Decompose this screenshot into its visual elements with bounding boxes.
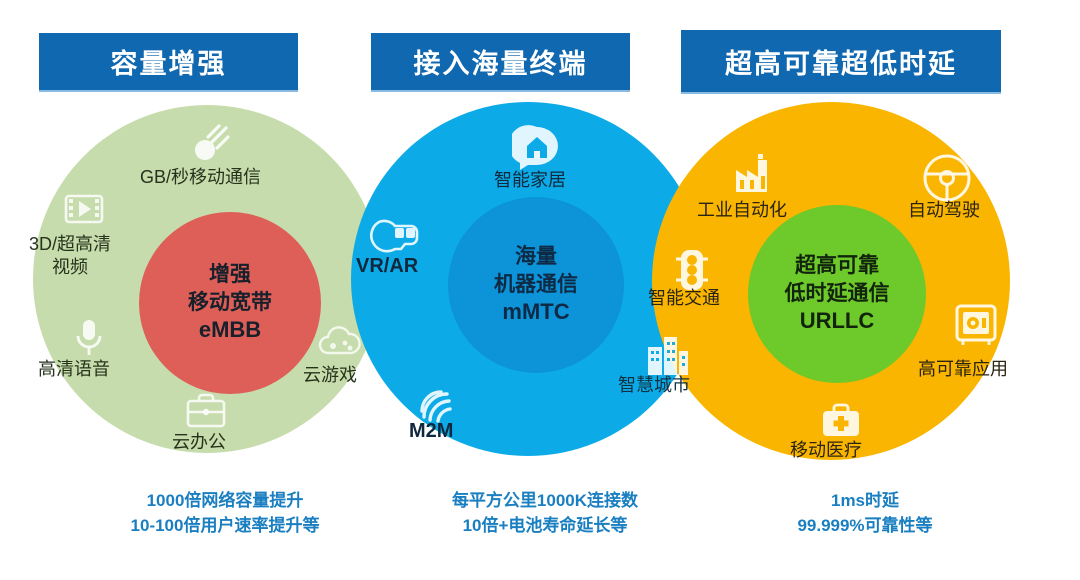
caption-embb: 1000倍网络容量提升 10-100倍用户速率提升等: [55, 489, 395, 538]
embb-core-line3: eMBB: [188, 316, 272, 345]
steering-wheel-icon: [921, 152, 973, 204]
label-industrial-automation: 工业自动化: [697, 200, 787, 221]
label-vr-ar: VR/AR: [356, 255, 418, 279]
label-cloud-office: 云办公: [172, 432, 226, 453]
banner-ultra-reliable-low-latency[interactable]: 超高可靠超低时延: [681, 30, 1001, 92]
buildings-icon: [643, 333, 691, 377]
banner-massive-terminals-label: 接入海量终端: [414, 42, 588, 81]
urllc-core-line1: 超高可靠: [785, 252, 890, 279]
caption-embb-line1: 1000倍网络容量提升: [55, 489, 395, 514]
label-smart-transport: 智能交通: [648, 288, 720, 309]
caption-embb-line2: 10-100倍用户速率提升等: [55, 514, 395, 539]
mmtc-core-line1: 海量: [494, 243, 578, 270]
caption-urllc: 1ms时延 99.999%可靠性等: [695, 489, 1035, 538]
film-play-icon: [63, 190, 105, 228]
speed-meteor-icon: [186, 120, 234, 168]
label-3d-uhd-video: 3D/超高清 视频: [10, 233, 130, 278]
mmtc-core-line3: mMTC: [494, 298, 578, 327]
safe-vault-icon: [952, 302, 1000, 348]
label-3d-uhd-video-text: 3D/超高清 视频: [29, 234, 111, 277]
cloud-gamepad-icon: [317, 323, 363, 359]
label-smart-city: 智慧城市: [618, 375, 690, 396]
medical-kit-icon: [819, 400, 863, 442]
embb-core-circle[interactable]: 增强 移动宽带 eMBB: [139, 212, 321, 394]
vr-headset-icon: [370, 216, 420, 260]
mmtc-core-circle[interactable]: 海量 机器通信 mMTC: [448, 197, 624, 373]
caption-urllc-line1: 1ms时延: [695, 489, 1035, 514]
diagram-canvas: 容量增强 接入海量终端 超高可靠超低时延 增强 移动宽带 eMBB 海量 机器通…: [0, 0, 1080, 580]
embb-core-line1: 增强: [188, 261, 272, 288]
caption-mmtc: 每平方公里1000K连接数 10倍+电池寿命延长等: [375, 489, 715, 538]
label-gb-per-second-mobile: GB/秒移动通信: [140, 167, 261, 188]
embb-core-line2: 移动宽带: [188, 289, 272, 316]
briefcase-icon: [184, 392, 228, 432]
banner-capacity[interactable]: 容量增强: [39, 33, 298, 90]
urllc-core-line3: URLLC: [785, 307, 890, 336]
label-high-reliability-apps: 高可靠应用: [918, 359, 1008, 380]
label-hd-voice: 高清语音: [38, 359, 110, 380]
banner-massive-terminals[interactable]: 接入海量终端: [371, 33, 630, 90]
home-chat-icon: [512, 124, 562, 172]
urllc-core-line2: 低时延通信: [785, 280, 890, 307]
urllc-core-circle[interactable]: 超高可靠 低时延通信 URLLC: [748, 205, 926, 383]
label-smart-home: 智能家居: [494, 170, 566, 191]
banner-ultra-reliable-low-latency-label: 超高可靠超低时延: [725, 42, 957, 81]
label-m2m: M2M: [409, 420, 453, 444]
label-cloud-gaming: 云游戏: [303, 365, 357, 386]
caption-urllc-line2: 99.999%可靠性等: [695, 514, 1035, 539]
label-autonomous-driving: 自动驾驶: [908, 200, 980, 221]
mmtc-core-line2: 机器通信: [494, 271, 578, 298]
caption-mmtc-line2: 10倍+电池寿命延长等: [375, 514, 715, 539]
caption-mmtc-line1: 每平方公里1000K连接数: [375, 489, 715, 514]
microphone-icon: [72, 316, 106, 360]
banner-capacity-label: 容量增强: [111, 42, 227, 81]
factory-icon: [730, 152, 776, 196]
label-mobile-healthcare: 移动医疗: [790, 440, 862, 461]
